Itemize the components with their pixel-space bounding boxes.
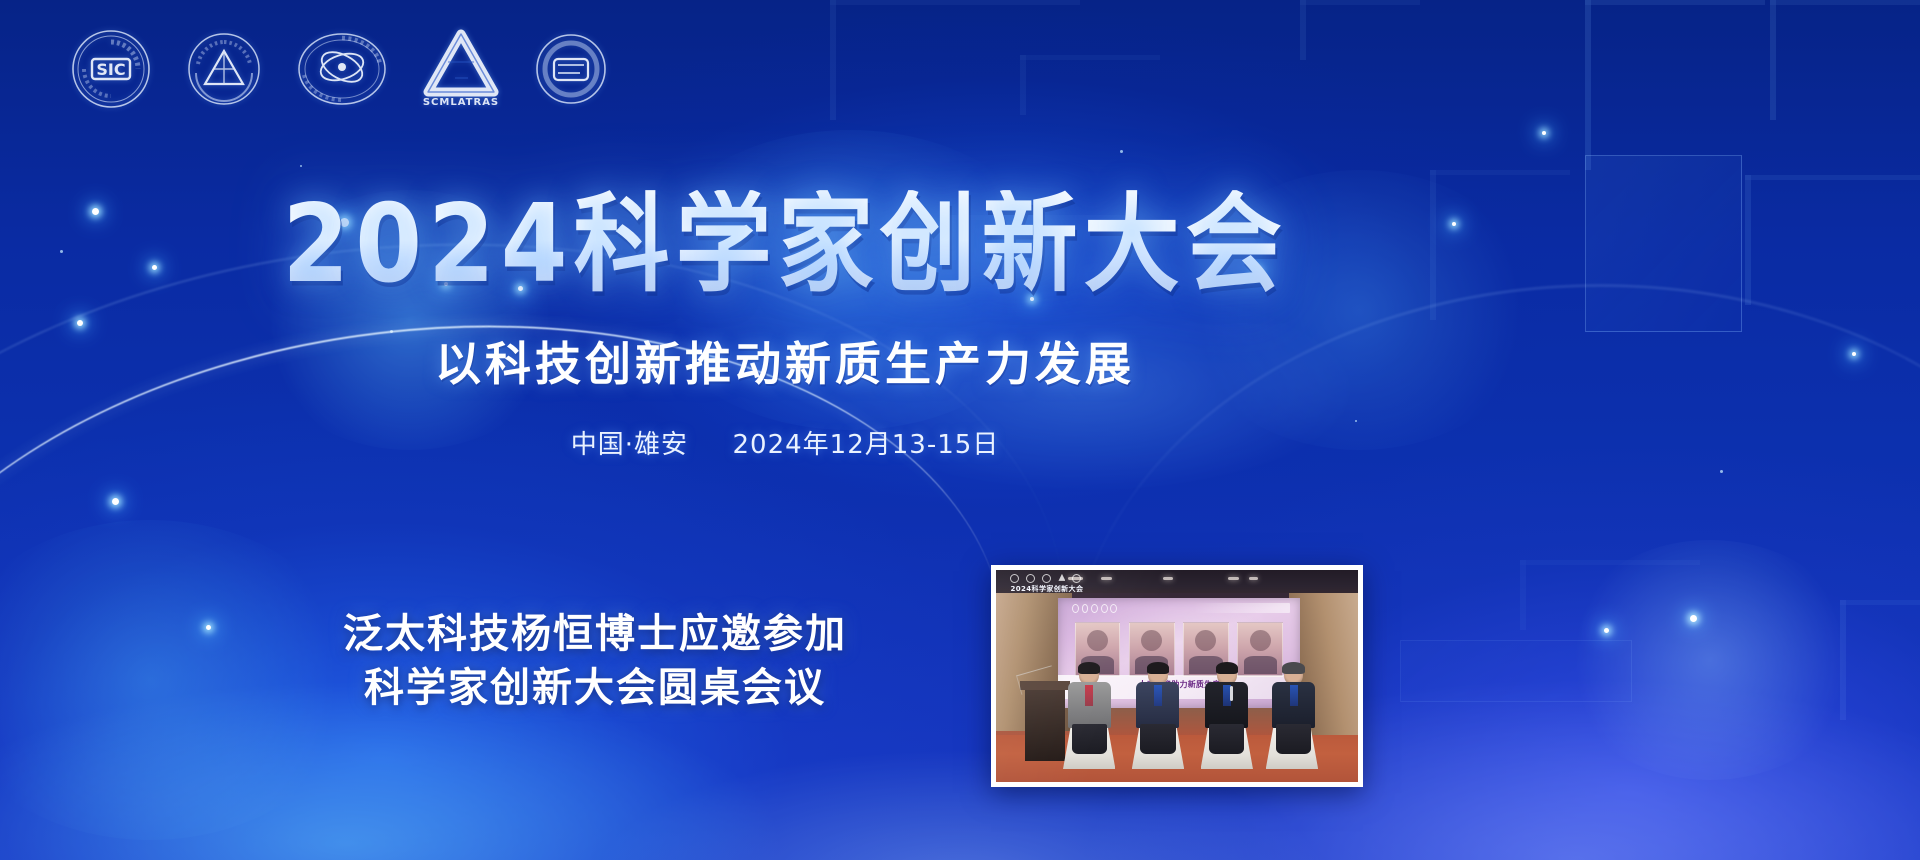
caption-line-1: 泛太科技杨恒博士应邀参加	[330, 608, 860, 662]
triangle-seal-logo	[186, 31, 262, 107]
hud-panel-shape	[1400, 640, 1632, 702]
light-spark	[112, 498, 119, 505]
svg-text:SIC: SIC	[96, 60, 125, 79]
data-grid-pattern	[1520, 560, 1700, 630]
caption-line-2: 科学家创新大会圆桌会议	[330, 662, 860, 716]
conference-banner: SIC SCMLATRAS	[0, 0, 1920, 860]
data-grid-pattern	[1745, 175, 1920, 305]
event-meta: 中国·雄安 2024年12月13-15日	[0, 424, 1570, 461]
page-title: 2024科学家创新大会	[0, 190, 1570, 300]
light-spark	[1852, 352, 1856, 356]
panel-photo-frame: 2024科学家创新大会 人工智能助	[991, 565, 1363, 787]
page-subtitle: 以科技创新推动新质生产力发展	[0, 328, 1570, 394]
data-grid-pattern	[1770, 0, 1920, 120]
event-location: 中国·雄安	[571, 430, 688, 460]
glow-blob	[1560, 540, 1860, 780]
delta-mark-wordmark: SCMLATRAS	[423, 97, 499, 108]
dust-particle	[1720, 470, 1723, 473]
sic-seal-logo: SIC	[70, 28, 152, 110]
sponsor-logo-row: SIC SCMLATRAS	[70, 26, 608, 112]
data-grid-pattern	[830, 0, 1080, 120]
announcement-caption: 泛太科技杨恒博士应邀参加 科学家创新大会圆桌会议	[330, 608, 860, 715]
event-dates: 2024年12月13-15日	[732, 430, 999, 460]
circle-badge-logo	[534, 32, 608, 106]
data-grid-pattern	[1585, 0, 1765, 170]
hud-panel-shape	[1585, 155, 1742, 332]
dust-particle	[300, 165, 302, 167]
light-spark	[1604, 628, 1609, 633]
data-grid-pattern	[1020, 55, 1160, 115]
panel-discussion-photo: 2024科学家创新大会 人工智能助	[996, 570, 1358, 782]
dust-particle	[1120, 150, 1123, 153]
light-spark	[1542, 131, 1546, 135]
light-spark	[206, 625, 211, 630]
light-spark	[1690, 615, 1697, 622]
headline-block: 2024科学家创新大会 以科技创新推动新质生产力发展 中国·雄安 2024年12…	[0, 196, 1570, 461]
mesh-glow	[0, 447, 1920, 860]
glow-blob	[0, 520, 360, 840]
delta-mark-logo: SCMLATRAS	[422, 26, 500, 112]
data-grid-pattern	[1840, 600, 1920, 720]
data-grid-pattern	[1300, 0, 1420, 60]
photo-sheen	[996, 570, 1358, 782]
atom-seal-logo	[296, 31, 388, 107]
